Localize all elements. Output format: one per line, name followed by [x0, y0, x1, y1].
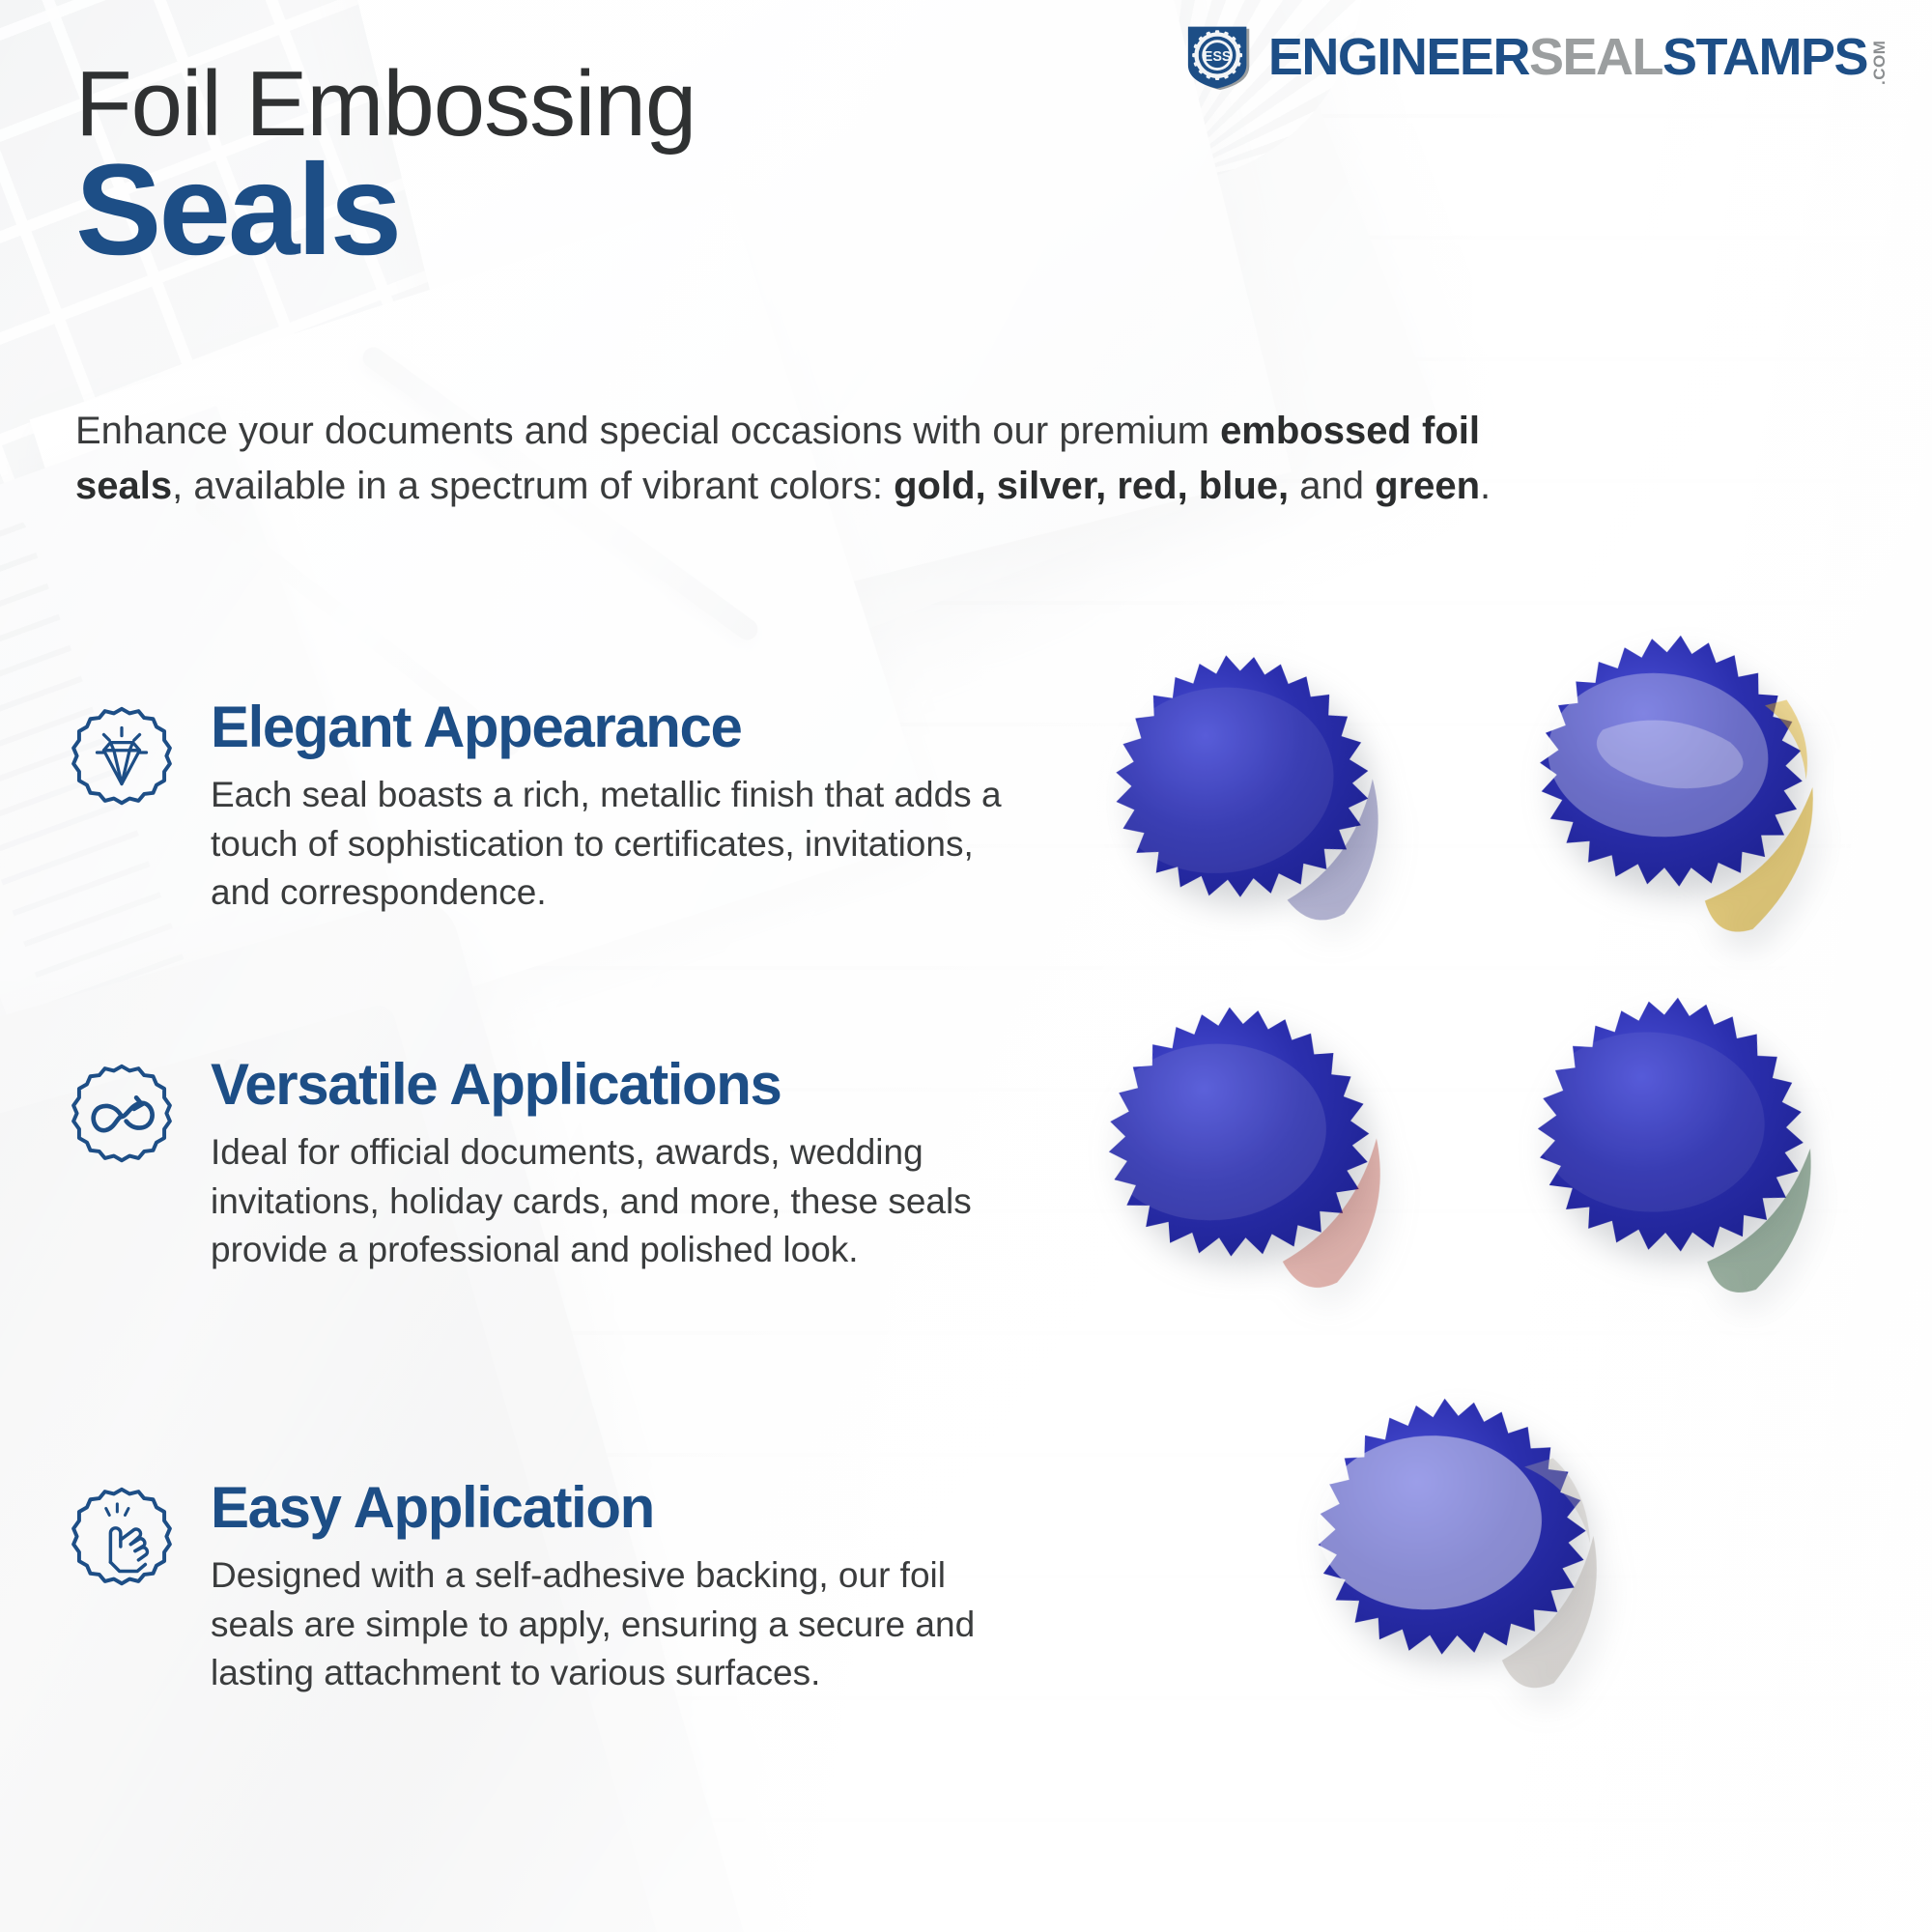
green-starburst-seal-icon	[1469, 980, 1869, 1359]
intro-bold-3: green	[1375, 465, 1480, 507]
seal-gold	[1466, 615, 1872, 997]
feature-body: Elegant Appearance Each seal boasts a ri…	[211, 697, 1032, 917]
logo-mark-text: ESS	[1204, 49, 1232, 65]
feature-title: Elegant Appearance	[211, 697, 1032, 757]
silver-starburst-seal-icon	[1251, 1381, 1656, 1763]
brand-logo[interactable]: ESS ENGINEER SEAL STAMPS .COM	[1185, 23, 1889, 93]
feature-body: Versatile Applications Ideal for officia…	[211, 1055, 1032, 1274]
feature-text: Designed with a self-adhesive backing, o…	[211, 1551, 1032, 1697]
infinity-loop-badge-icon	[66, 1061, 178, 1173]
page-title: Foil Embossing Seals	[75, 56, 696, 272]
logo-word-stamps: STAMPS	[1662, 31, 1867, 83]
logo-word-dotcom: .COM	[1870, 33, 1889, 85]
feature-title: Versatile Applications	[211, 1055, 1032, 1115]
ess-gear-shield-icon: ESS	[1185, 23, 1255, 93]
foil-seal-gallery	[1053, 628, 1903, 1835]
feature-body: Easy Application Designed with a self-ad…	[211, 1478, 1032, 1697]
feature-title: Easy Application	[211, 1478, 1032, 1538]
feature-text: Each seal boasts a rich, metallic finish…	[211, 771, 1032, 917]
intro-paragraph: Enhance your documents and special occas…	[75, 404, 1582, 514]
blue-starburst-seal-icon	[1043, 626, 1449, 1011]
intro-bold-2: gold, silver, red, blue,	[894, 465, 1289, 507]
gold-starburst-seal-icon	[1466, 615, 1872, 997]
feature-versatile-applications: Versatile Applications Ideal for officia…	[66, 1055, 1032, 1274]
logo-wordmark: ENGINEER SEAL STAMPS .COM	[1268, 31, 1889, 85]
headline-line-2: Seals	[75, 149, 696, 273]
intro-part-4: .	[1480, 465, 1491, 507]
intro-part-1: Enhance your documents and special occas…	[75, 410, 1220, 452]
logo-word-engineer: ENGINEER	[1268, 31, 1529, 83]
seal-green	[1469, 980, 1869, 1359]
logo-word-seal: SEAL	[1529, 31, 1662, 83]
diamond-badge-icon	[66, 703, 178, 815]
feature-easy-application: Easy Application Designed with a self-ad…	[66, 1478, 1032, 1697]
intro-part-3: and	[1289, 465, 1375, 507]
hand-tap-badge-icon	[66, 1484, 178, 1596]
intro-part-2: , available in a spectrum of vibrant col…	[172, 465, 894, 507]
red-starburst-seal-icon	[1041, 987, 1442, 1365]
seal-red	[1041, 987, 1442, 1365]
seal-blue	[1043, 626, 1449, 1011]
feature-text: Ideal for official documents, awards, we…	[211, 1128, 1032, 1274]
feature-elegant-appearance: Elegant Appearance Each seal boasts a ri…	[66, 697, 1032, 917]
seal-silver	[1251, 1381, 1656, 1763]
infographic-content: ESS ENGINEER SEAL STAMPS .COM Foil Embos…	[0, 0, 1932, 1932]
